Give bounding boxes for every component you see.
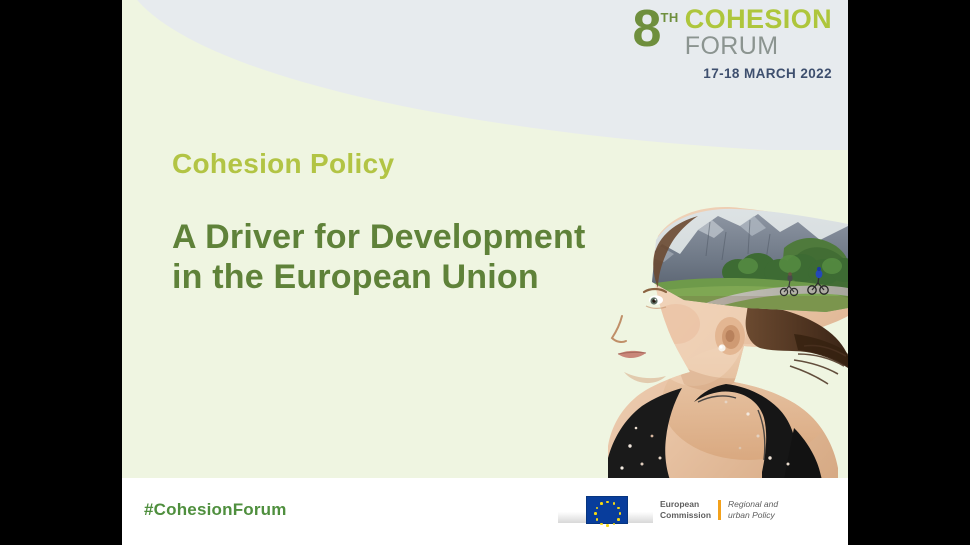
- logo-divider: [718, 500, 721, 520]
- slide-footer: #CohesionForum: [122, 478, 848, 545]
- logo-words: COHESION FORUM: [685, 6, 832, 60]
- eu-commission-logo: European Commission Regional and urban P…: [558, 488, 778, 532]
- logo-word-cohesion: COHESION: [685, 6, 832, 33]
- eu-department-line2: urban Policy: [728, 510, 778, 521]
- eu-institution-line1: European: [660, 499, 711, 510]
- event-date: 17-18 MARCH 2022: [570, 66, 832, 81]
- logo-edition-number: 8: [633, 6, 660, 54]
- eu-logo-text-group: European Commission Regional and urban P…: [654, 499, 778, 521]
- eu-department-line1: Regional and: [728, 499, 778, 510]
- eu-flag-icon: [586, 496, 628, 524]
- eu-flag-emblem: [558, 490, 654, 530]
- eu-institution-name: European Commission: [660, 499, 711, 521]
- hashtag-label: #CohesionForum: [144, 500, 287, 520]
- slide-stage: 8 TH COHESION FORUM 17-18 MARCH 2022 Coh…: [0, 0, 970, 545]
- logo-ordinal-suffix: TH: [660, 10, 678, 25]
- presentation-slide: 8 TH COHESION FORUM 17-18 MARCH 2022 Coh…: [122, 0, 848, 545]
- eu-department-name: Regional and urban Policy: [728, 499, 778, 521]
- logo-word-forum: FORUM: [685, 33, 832, 60]
- girl-landscape-photo: [598, 196, 848, 480]
- eyebrow-text: Cohesion Policy: [172, 148, 394, 180]
- page-title: A Driver for Development in the European…: [172, 218, 602, 298]
- cohesion-forum-logo: 8 TH COHESION FORUM 17-18 MARCH 2022: [570, 6, 832, 81]
- logo-wordmark-row: 8 TH COHESION FORUM: [570, 6, 832, 60]
- eu-institution-line2: Commission: [660, 510, 711, 521]
